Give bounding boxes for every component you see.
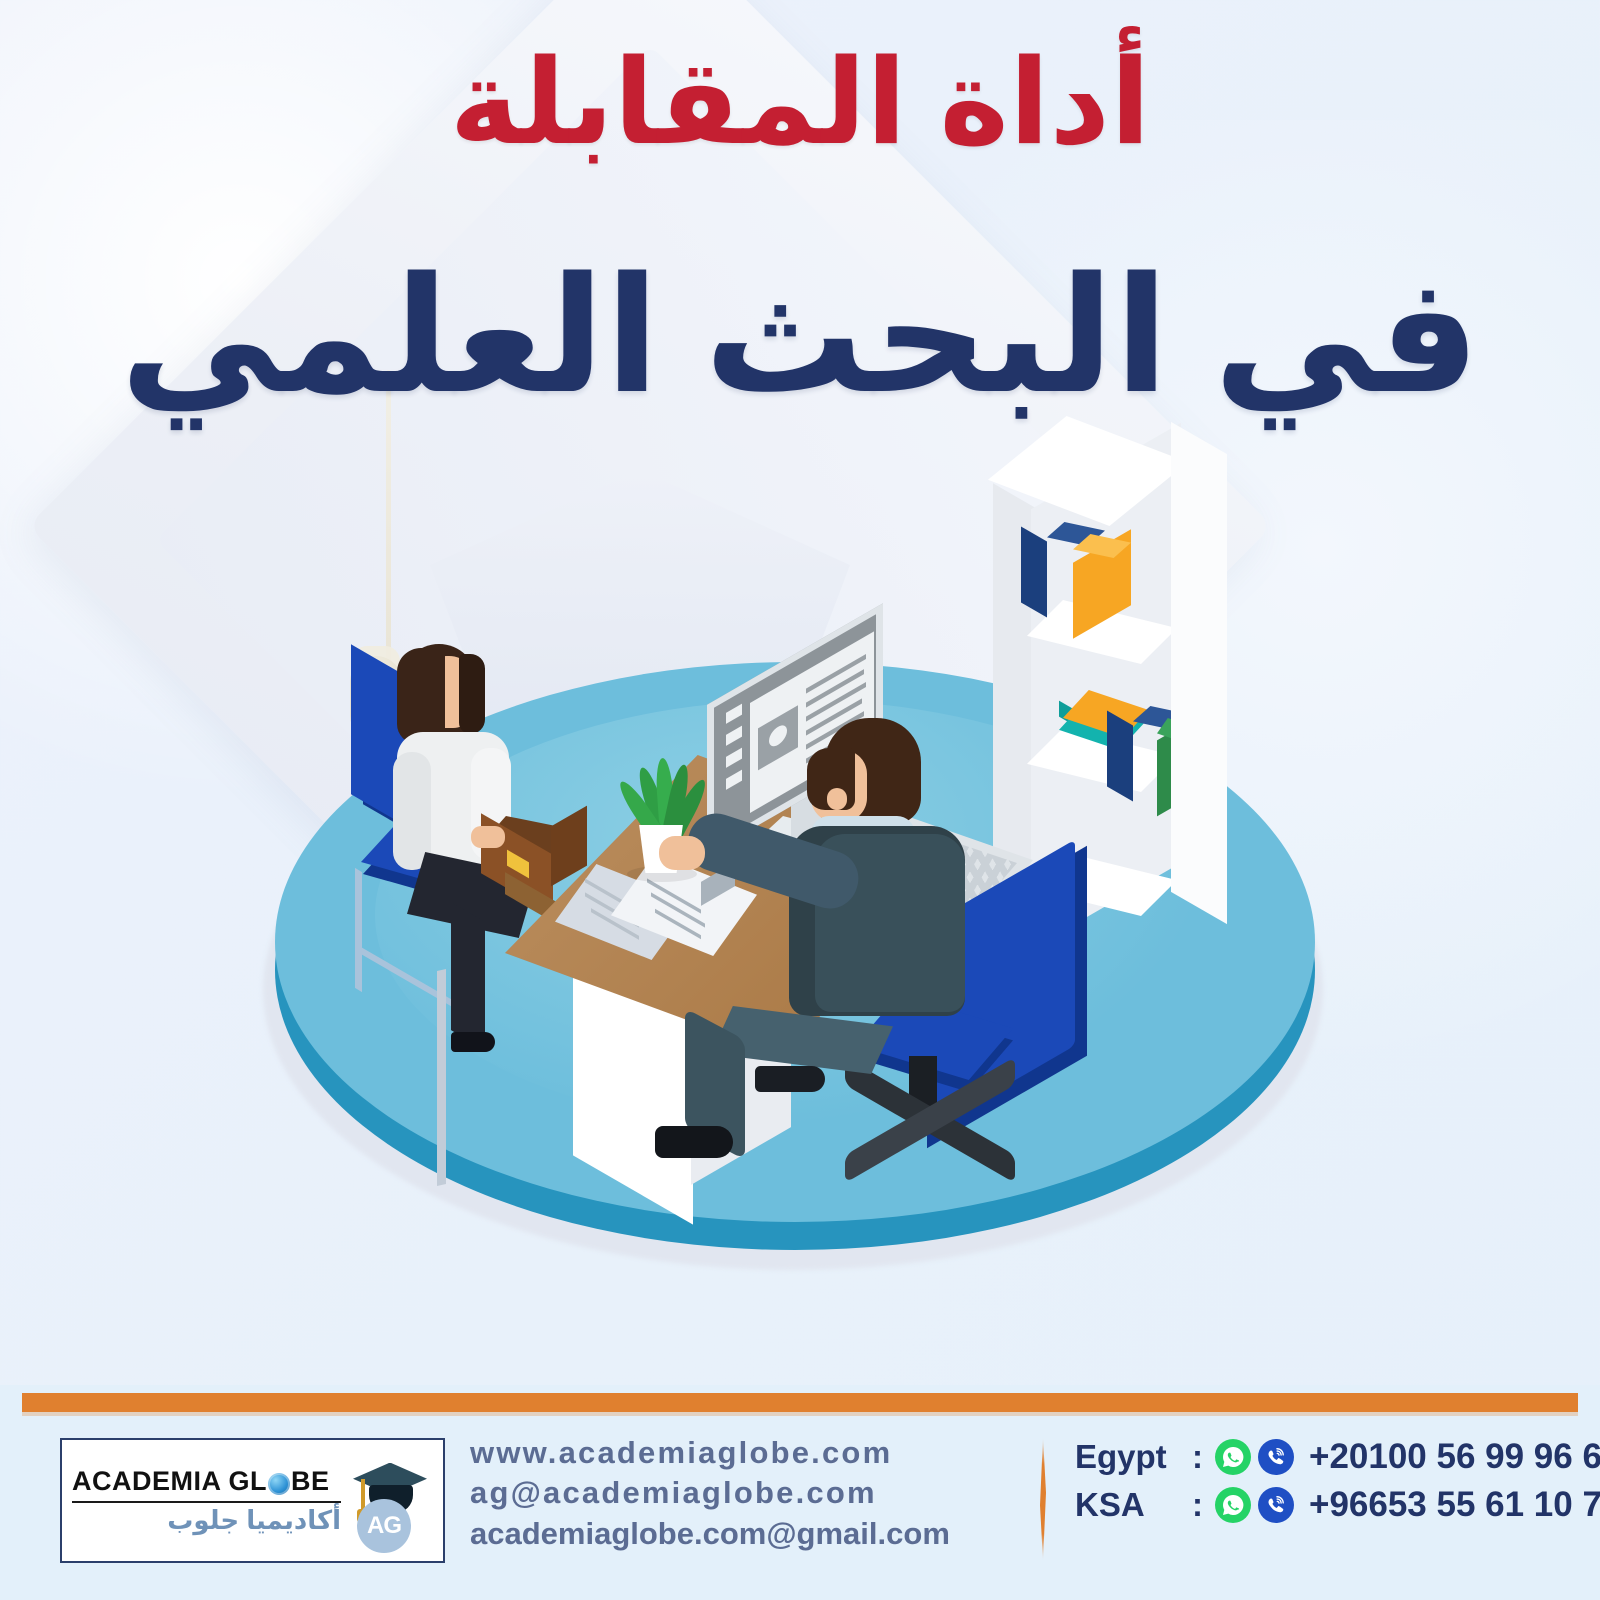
interview-illustration	[255, 620, 1345, 1340]
phone-country-ksa: KSA	[1075, 1486, 1185, 1524]
phone-row-egypt: Egypt : +20100 56 99 96 6	[1075, 1437, 1595, 1477]
woman-hair-front	[397, 648, 445, 744]
footer: AG ACADEMIA GLBE أكاديميا جلوب www.acade…	[0, 1385, 1600, 1600]
man-shoe	[655, 1126, 733, 1158]
email-secondary[interactable]: academiaglobe.com@gmail.com	[470, 1514, 1000, 1554]
footer-divider-bar	[22, 1393, 1578, 1412]
footer-vertical-divider	[1040, 1437, 1046, 1561]
whatsapp-icon[interactable]	[1215, 1487, 1251, 1523]
website-link[interactable]: www.academiaglobe.com	[470, 1433, 1000, 1473]
man-hand	[659, 836, 705, 870]
man-shoe-back	[755, 1066, 825, 1092]
phone-country-egypt: Egypt	[1075, 1438, 1185, 1476]
screen-avatar-placeholder	[758, 705, 798, 770]
whatsapp-icon[interactable]	[1215, 1439, 1251, 1475]
phone-separator: :	[1192, 1486, 1208, 1524]
contact-list: www.academiaglobe.com ag@academiaglobe.c…	[470, 1433, 1000, 1554]
ag-monogram: AG	[357, 1499, 411, 1553]
brand-logo[interactable]: AG ACADEMIA GLBE أكاديميا جلوب	[60, 1438, 445, 1563]
graduation-cap-icon: AG	[349, 1455, 433, 1547]
man-ear	[827, 788, 847, 810]
woman-hair-side	[459, 654, 485, 734]
bookshelf-right-panel	[1171, 422, 1227, 924]
globe-icon	[268, 1473, 290, 1495]
page-title-red: أداة المقابلة	[0, 42, 1600, 166]
woman-leg	[451, 902, 485, 1050]
phone-list: Egypt : +20100 56 99 96 6 KSA :	[1075, 1437, 1595, 1533]
viber-icon[interactable]	[1258, 1487, 1294, 1523]
phone-number-ksa[interactable]: +96653 55 61 10 7	[1309, 1485, 1600, 1525]
logo-name-ar: أكاديميا جلوب	[72, 1505, 341, 1536]
email-primary[interactable]: ag@academiaglobe.com	[470, 1473, 1000, 1513]
phone-separator: :	[1192, 1438, 1208, 1476]
woman-hand	[471, 826, 505, 848]
phone-number-egypt[interactable]: +20100 56 99 96 6	[1309, 1437, 1600, 1477]
footer-divider-shadow	[22, 1412, 1578, 1416]
logo-divider	[72, 1501, 341, 1503]
page-title-blue: في البحث العلمي	[0, 250, 1600, 423]
logo-name-en: ACADEMIA GLBE	[72, 1466, 341, 1497]
phone-row-ksa: KSA : +96653 55 61 10 7	[1075, 1485, 1595, 1525]
woman-shoe	[451, 1032, 495, 1052]
poster-canvas: أداة المقابلة في البحث العلمي	[0, 0, 1600, 1600]
desk-leg	[437, 969, 446, 1186]
viber-icon[interactable]	[1258, 1439, 1294, 1475]
